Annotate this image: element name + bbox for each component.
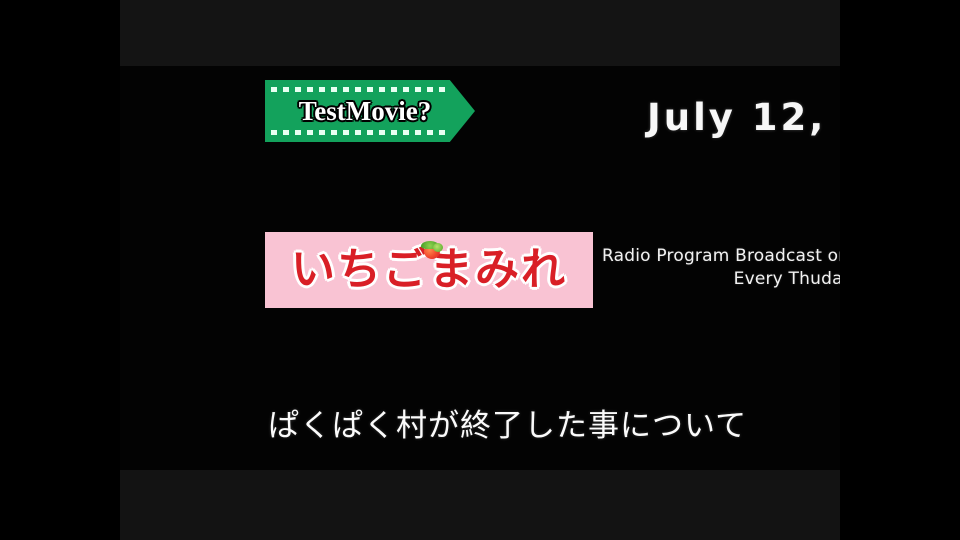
test-movie-ribbon-badge: TestMovie? xyxy=(265,80,475,142)
background-band-bottom xyxy=(120,470,840,540)
broadcast-schedule-line-2: Every Thuday MidNight xyxy=(602,268,840,291)
background-band-top xyxy=(120,0,840,66)
strawberry-leaf-secondary xyxy=(433,243,443,252)
episode-subtitle: ぱくぱく村が終了した事について xyxy=(268,406,747,446)
ribbon-dotted-border-top xyxy=(271,87,451,92)
broadcast-date: July 12, 2018 xyxy=(647,96,840,140)
video-frame: TestMovie? July 12, 2018 いちごまみれ Radio Pr… xyxy=(0,0,960,540)
letterbox-bar-right xyxy=(840,0,960,540)
program-logo-inner: いちごまみれ xyxy=(291,244,567,296)
ribbon-label: TestMovie? xyxy=(299,96,431,127)
broadcast-schedule-line-1: Radio Program Broadcast on xyxy=(602,245,840,268)
video-content-area: TestMovie? July 12, 2018 いちごまみれ Radio Pr… xyxy=(120,0,840,540)
strawberry-icon xyxy=(419,240,445,260)
letterbox-bar-left xyxy=(0,0,120,540)
broadcast-schedule: Radio Program Broadcast on Every Thuday … xyxy=(602,245,840,291)
program-logo: いちごまみれ xyxy=(265,232,593,308)
ribbon-dotted-border-bottom xyxy=(271,130,451,135)
